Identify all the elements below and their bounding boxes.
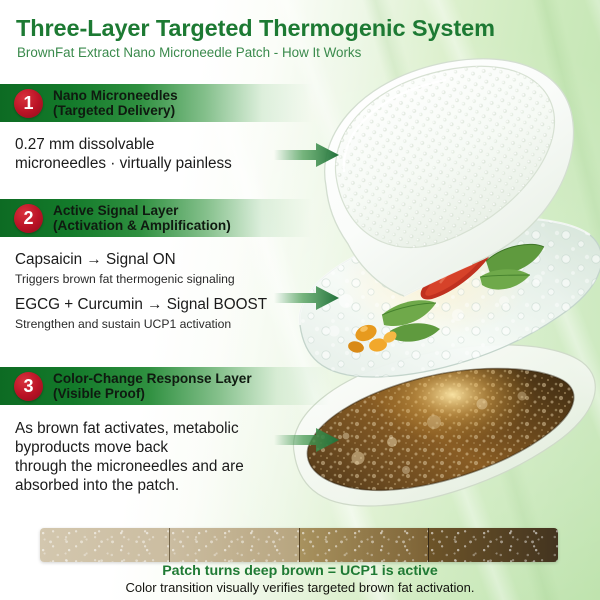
flow-arrow-step-3	[274, 427, 340, 453]
color-strip-segment-4	[428, 528, 558, 562]
step-title-2-line1: Active Signal Layer	[53, 203, 231, 219]
color-strip-segment-2	[169, 528, 299, 562]
step-body-3-line3: through the microneedles and are	[15, 456, 244, 477]
step-body-2-line1: Capsaicin → Signal ON	[15, 249, 176, 270]
strip-speckle-1	[40, 528, 169, 562]
step-title-2: Active Signal Layer (Activation & Amplif…	[53, 203, 231, 234]
step-body-3-line2: byproducts move back	[15, 437, 168, 458]
color-transition-strip	[40, 528, 558, 562]
step-body-2-line4: Strengthen and sustain UCP1 activation	[15, 316, 231, 333]
step-badge-3: 3	[14, 372, 43, 401]
step-header-3: 3 Color-Change Response Layer (Visible P…	[0, 367, 330, 405]
step-title-1-line2: (Targeted Delivery)	[53, 103, 178, 119]
color-strip-segment-3	[299, 528, 429, 562]
step-body-3-line1: As brown fat activates, metabolic	[15, 418, 239, 439]
step-title-3-line1: Color-Change Response Layer	[53, 371, 252, 387]
step-title-1-line1: Nano Microneedles	[53, 88, 178, 104]
strip-speckle-2	[170, 528, 299, 562]
step-body-1-line2: microneedles · virtually painless	[15, 153, 232, 174]
step-title-3: Color-Change Response Layer (Visible Pro…	[53, 371, 252, 402]
step-title-2-line2: (Activation & Amplification)	[53, 218, 231, 234]
step-body-2-line2: Triggers brown fat thermogenic signaling	[15, 271, 235, 288]
flow-arrow-step-1	[274, 142, 340, 168]
step-body-2-line3: EGCG + Curcumin → Signal BOOST	[15, 294, 267, 315]
step-body-3-line4: absorbed into the patch.	[15, 475, 179, 496]
page-title: Three-Layer Targeted Thermogenic System	[16, 15, 495, 42]
color-strip-segment-1	[40, 528, 169, 562]
step-header-2: 2 Active Signal Layer (Activation & Ampl…	[0, 199, 312, 237]
strip-speckle-4	[429, 528, 558, 562]
step-body-1-line1: 0.27 mm dissolvable	[15, 134, 154, 155]
patch-layer-microneedle	[296, 58, 596, 298]
step-title-1: Nano Microneedles (Targeted Delivery)	[53, 88, 178, 119]
page-subtitle: BrownFat Extract Nano Microneedle Patch …	[17, 45, 361, 60]
infographic-canvas: 1 Nano Microneedles (Targeted Delivery) …	[0, 0, 600, 600]
strip-caption-secondary: Color transition visually verifies targe…	[0, 580, 600, 595]
flow-arrow-step-2	[274, 285, 340, 311]
step-header-1: 1 Nano Microneedles (Targeted Delivery)	[0, 84, 312, 122]
strip-speckle-3	[300, 528, 429, 562]
step-badge-2: 2	[14, 204, 43, 233]
strip-caption-primary: Patch turns deep brown = UCP1 is active	[0, 563, 600, 579]
step-title-3-line2: (Visible Proof)	[53, 386, 252, 402]
step-badge-1: 1	[14, 89, 43, 118]
